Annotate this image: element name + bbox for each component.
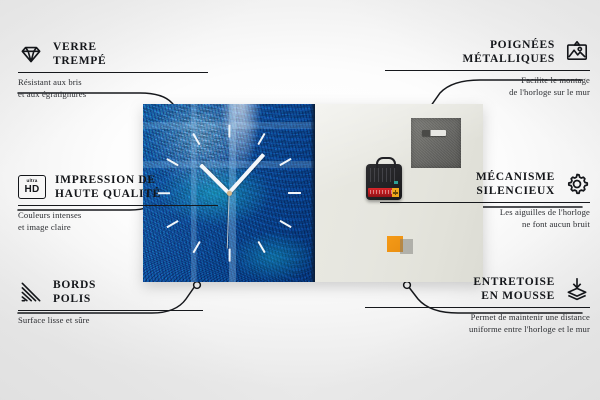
feature-foam-spacer: ENTRETOISE EN MOUSSE Permet de maintenir…	[365, 275, 590, 335]
feature-tempered-glass: VERRE TREMPÉ Résistant aux bris et aux é…	[18, 40, 208, 100]
feature-header: MÉCANISME SILENCIEUX	[380, 170, 590, 198]
feature-title: ENTRETOISE EN MOUSSE	[473, 275, 555, 303]
feature-divider	[365, 307, 590, 308]
metal-grain	[411, 118, 461, 168]
gear-icon	[564, 171, 590, 197]
clock-tick	[228, 124, 230, 137]
feature-divider	[385, 70, 590, 71]
feature-subtitle: Permet de maintenir une distance uniform…	[365, 312, 590, 335]
feature-subtitle: Facilite le montage de l'horloge sur le …	[385, 75, 590, 98]
feature-silent-mechanism: MÉCANISME SILENCIEUX Les aiguilles de l'…	[380, 170, 590, 230]
feature-title: IMPRESSION DE HAUTE QUALITÉ	[55, 173, 161, 201]
feature-hd-print: ultra HD IMPRESSION DE HAUTE QUALITÉ Cou…	[18, 173, 218, 233]
feature-metal-handles: POIGNÉES MÉTALLIQUES Facilite le montage…	[385, 38, 590, 98]
diamond-icon	[18, 41, 44, 67]
feature-polished-edges: BORDS POLIS Surface lisse et sûre	[18, 278, 203, 327]
feature-subtitle: Les aiguilles de l'horloge ne font aucun…	[380, 207, 590, 230]
feature-header: BORDS POLIS	[18, 278, 203, 306]
feature-divider	[18, 72, 208, 73]
keyhole-slot	[422, 130, 446, 136]
metal-hanger-plate	[411, 118, 461, 168]
feature-header: ENTRETOISE EN MOUSSE	[365, 275, 590, 303]
infographic-canvas: VERRE TREMPÉ Résistant aux bris et aux é…	[0, 0, 600, 400]
clock-center-cap	[227, 191, 232, 196]
polished-edge-lines-icon	[18, 279, 44, 305]
feature-title: VERRE TREMPÉ	[53, 40, 106, 68]
feature-divider	[18, 205, 218, 206]
feature-divider	[380, 202, 590, 203]
feature-divider	[18, 310, 203, 311]
hanging-picture-frame-icon	[564, 39, 590, 65]
feature-title: BORDS POLIS	[53, 278, 96, 306]
feature-subtitle: Couleurs intenses et image claire	[18, 210, 218, 233]
clock-tick	[288, 192, 301, 194]
feature-subtitle: Résistant aux bris et aux égratignures	[18, 77, 208, 100]
mechanism-hanger-loop	[376, 157, 396, 168]
feature-title: MÉCANISME SILENCIEUX	[476, 170, 555, 198]
feature-header: ultra HD IMPRESSION DE HAUTE QUALITÉ	[18, 173, 218, 201]
clock-tick	[228, 249, 230, 262]
feature-subtitle: Surface lisse et sûre	[18, 315, 203, 327]
feature-header: VERRE TREMPÉ	[18, 40, 208, 68]
feature-header: POIGNÉES MÉTALLIQUES	[385, 38, 590, 66]
foam-spacer-pad	[387, 236, 403, 252]
press-down-foam-icon	[564, 276, 590, 302]
feature-title: POIGNÉES MÉTALLIQUES	[463, 38, 555, 66]
ultra-hd-badge-icon: ultra HD	[18, 175, 46, 199]
